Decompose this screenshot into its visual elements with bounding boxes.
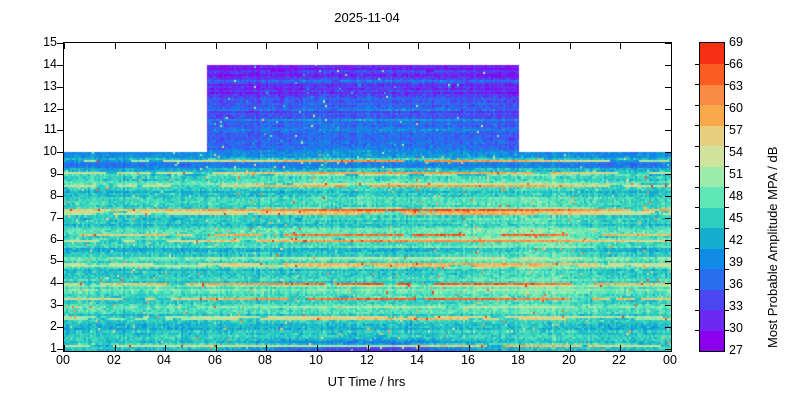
colorbar-cell xyxy=(700,166,724,187)
y-tick xyxy=(57,87,63,88)
x-tick xyxy=(216,345,217,351)
x-tick-label: 06 xyxy=(195,353,235,367)
plot-area[interactable] xyxy=(63,42,672,352)
y-tick xyxy=(57,196,63,197)
x-tick-label: 12 xyxy=(347,353,387,367)
y-tick xyxy=(57,327,63,328)
y-tick xyxy=(57,218,63,219)
x-tick-top xyxy=(64,43,65,49)
colorbar-tick-left xyxy=(695,146,700,147)
colorbar-tick-labels: 696663605754514845423936333027 xyxy=(729,42,759,352)
x-tick xyxy=(165,345,166,351)
colorbar-cell xyxy=(700,146,724,167)
colorbar-cell xyxy=(700,84,724,105)
colorbar-cell xyxy=(700,228,724,249)
colorbar-tick-label: 63 xyxy=(729,80,743,92)
y-tick xyxy=(57,305,63,306)
colorbar-tick-label: 45 xyxy=(729,212,743,224)
x-tick-label: 10 xyxy=(296,353,336,367)
y-axis-tick-labels: 123456789101112131415 xyxy=(27,42,57,350)
y-tick-right xyxy=(665,327,671,328)
x-tick xyxy=(266,345,267,351)
y-tick xyxy=(57,43,63,44)
y-tick-right xyxy=(665,130,671,131)
x-tick-top xyxy=(570,43,571,49)
x-tick-top xyxy=(418,43,419,49)
x-tick-label: 02 xyxy=(94,353,134,367)
x-tick-label: 00 xyxy=(43,353,83,367)
y-tick xyxy=(57,349,63,350)
x-tick xyxy=(519,345,520,351)
x-tick xyxy=(368,345,369,351)
colorbar-tick-left xyxy=(695,105,700,106)
colorbar-tick-label: 39 xyxy=(729,256,743,268)
colorbar-cell xyxy=(700,330,724,351)
x-tick-top xyxy=(671,43,672,49)
y-tick xyxy=(57,283,63,284)
x-tick-label: 14 xyxy=(397,353,437,367)
y-tick-label: 14 xyxy=(31,58,57,70)
colorbar-tick-left xyxy=(695,166,700,167)
y-tick-right xyxy=(665,65,671,66)
x-tick-label: 00 xyxy=(650,353,690,367)
x-tick xyxy=(64,345,65,351)
colorbar-cell xyxy=(700,289,724,310)
y-tick-label: 5 xyxy=(31,254,57,266)
y-tick xyxy=(57,261,63,262)
x-tick-top xyxy=(165,43,166,49)
colorbar-tick-label: 30 xyxy=(729,322,743,334)
y-tick-right xyxy=(665,218,671,219)
y-tick-right xyxy=(665,87,671,88)
x-tick xyxy=(671,345,672,351)
page-title: 2025-11-04 xyxy=(0,10,734,26)
y-tick-right xyxy=(665,152,671,153)
colorbar-cell xyxy=(700,64,724,85)
x-tick-label: 20 xyxy=(549,353,589,367)
colorbar-tick-left xyxy=(695,207,700,208)
x-tick xyxy=(317,345,318,351)
y-tick-label: 3 xyxy=(31,298,57,310)
y-tick xyxy=(57,109,63,110)
colorbar-tick-label: 33 xyxy=(729,300,743,312)
y-tick-label: 2 xyxy=(31,320,57,332)
x-tick-label: 08 xyxy=(245,353,285,367)
colorbar-tick-left xyxy=(695,228,700,229)
colorbar-tick-left xyxy=(695,330,700,331)
colorbar-cell xyxy=(700,207,724,228)
x-tick-top xyxy=(216,43,217,49)
colorbar-tick-left xyxy=(695,84,700,85)
colorbar-tick-left xyxy=(695,248,700,249)
x-tick xyxy=(620,345,621,351)
y-tick-right xyxy=(665,174,671,175)
colorbar-tick-label: 54 xyxy=(729,146,743,158)
colorbar[interactable] xyxy=(699,42,725,352)
y-tick-label: 4 xyxy=(31,276,57,288)
x-tick-top xyxy=(469,43,470,49)
y-tick-label: 10 xyxy=(31,145,57,157)
colorbar-cell xyxy=(700,43,724,64)
spectrogram-figure: 2025-11-04 123456789101112131415 0002040… xyxy=(0,0,800,400)
x-tick xyxy=(570,345,571,351)
x-tick xyxy=(418,345,419,351)
colorbar-cell xyxy=(700,105,724,126)
y-tick-label: 15 xyxy=(31,36,57,48)
x-tick xyxy=(115,345,116,351)
y-tick xyxy=(57,174,63,175)
colorbar-cell xyxy=(700,269,724,290)
y-tick-label: 9 xyxy=(31,167,57,179)
colorbar-cell xyxy=(700,125,724,146)
colorbar-tick-left xyxy=(695,64,700,65)
x-tick-top xyxy=(368,43,369,49)
colorbar-tick-label: 48 xyxy=(729,190,743,202)
x-axis-title: UT Time / hrs xyxy=(63,374,670,389)
y-tick-label: 12 xyxy=(31,102,57,114)
x-tick-top xyxy=(519,43,520,49)
colorbar-tick-left xyxy=(695,310,700,311)
colorbar-cell xyxy=(700,248,724,269)
y-tick xyxy=(57,152,63,153)
y-tick-right xyxy=(665,196,671,197)
y-tick xyxy=(57,130,63,131)
colorbar-tick-label: 42 xyxy=(729,234,743,246)
colorbar-tick-left xyxy=(695,125,700,126)
colorbar-tick-label: 69 xyxy=(729,36,743,48)
spectrogram-canvas[interactable] xyxy=(64,43,671,351)
colorbar-tick-label: 27 xyxy=(729,344,743,356)
colorbar-tick-label: 60 xyxy=(729,102,743,114)
x-tick-top xyxy=(620,43,621,49)
x-tick-label: 16 xyxy=(448,353,488,367)
y-tick-right xyxy=(665,109,671,110)
y-tick xyxy=(57,240,63,241)
y-tick-right xyxy=(665,283,671,284)
x-tick-top xyxy=(115,43,116,49)
x-tick-label: 04 xyxy=(144,353,184,367)
x-axis-tick-labels: 00020406081012141618202200 xyxy=(63,353,670,371)
colorbar-tick-label: 57 xyxy=(729,124,743,136)
colorbar-tick-label: 66 xyxy=(729,58,743,70)
colorbar-cell xyxy=(700,310,724,331)
y-tick-label: 8 xyxy=(31,189,57,201)
y-tick-right xyxy=(665,305,671,306)
x-tick xyxy=(469,345,470,351)
x-tick-label: 18 xyxy=(498,353,538,367)
y-tick-right xyxy=(665,261,671,262)
y-tick xyxy=(57,65,63,66)
x-tick-label: 22 xyxy=(599,353,639,367)
colorbar-tick-left xyxy=(695,269,700,270)
x-tick-top xyxy=(317,43,318,49)
colorbar-title: Most Probable Amplitude MPA / dB xyxy=(765,147,780,348)
colorbar-tick-left xyxy=(695,289,700,290)
y-tick-label: 6 xyxy=(31,233,57,245)
colorbar-tick-label: 36 xyxy=(729,278,743,290)
colorbar-cell xyxy=(700,187,724,208)
y-tick-right xyxy=(665,240,671,241)
y-tick-label: 13 xyxy=(31,80,57,92)
colorbar-tick-left xyxy=(695,187,700,188)
y-tick-label: 11 xyxy=(31,123,57,135)
y-tick-label: 7 xyxy=(31,211,57,223)
x-tick-top xyxy=(266,43,267,49)
colorbar-tick-label: 51 xyxy=(729,168,743,180)
